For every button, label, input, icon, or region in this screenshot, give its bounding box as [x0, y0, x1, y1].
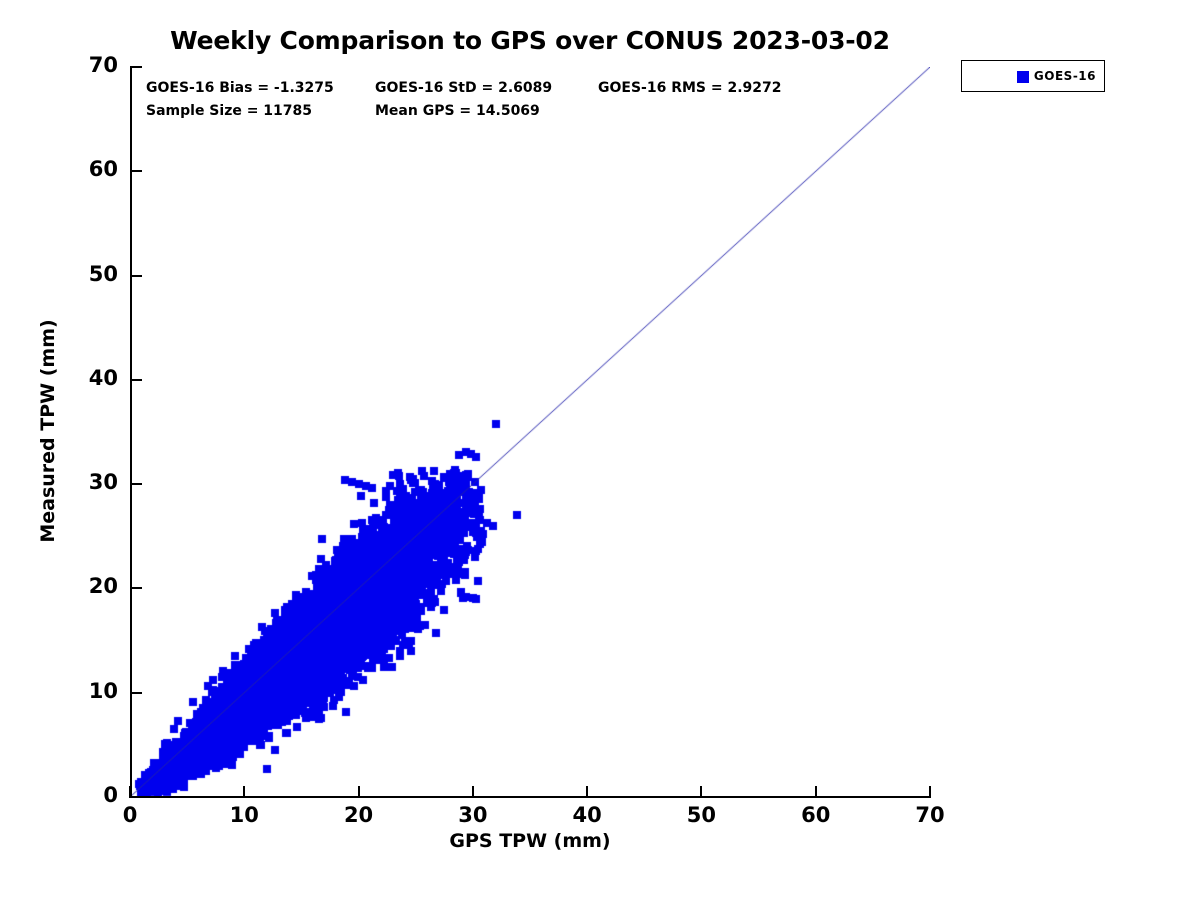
x-tick-60: [815, 786, 817, 797]
legend: GOES-16: [961, 60, 1105, 92]
x-tick-label-10: 10: [214, 803, 274, 827]
x-tick-10: [243, 786, 245, 797]
x-tick-label-40: 40: [557, 803, 617, 827]
y-axis-label: Measured TPW (mm): [37, 301, 59, 561]
y-tick-50: [131, 275, 142, 277]
stat-mean-gps: Mean GPS = 14.5069: [375, 103, 540, 119]
x-tick-label-50: 50: [671, 803, 731, 827]
y-tick-0: [131, 796, 142, 798]
stat-std: GOES-16 StD = 2.6089: [375, 80, 552, 96]
stat-sample-size: Sample Size = 11785: [146, 103, 312, 119]
plot-area: [130, 67, 930, 797]
y-axis-spine: [130, 66, 132, 798]
y-tick-label-30: 30: [58, 470, 118, 494]
x-tick-label-30: 30: [443, 803, 503, 827]
legend-label-goes16: GOES-16: [1034, 69, 1096, 83]
x-tick-70: [929, 786, 931, 797]
y-tick-label-40: 40: [58, 366, 118, 390]
scatter-plot-canvas: [130, 67, 930, 797]
stat-rms: GOES-16 RMS = 2.9272: [598, 80, 782, 96]
x-tick-50: [700, 786, 702, 797]
page-title: Weekly Comparison to GPS over CONUS 2023…: [130, 26, 930, 55]
x-tick-label-70: 70: [900, 803, 960, 827]
y-tick-label-50: 50: [58, 262, 118, 286]
y-tick-20: [131, 587, 142, 589]
y-tick-60: [131, 170, 142, 172]
y-tick-label-20: 20: [58, 574, 118, 598]
y-tick-30: [131, 483, 142, 485]
x-axis-label: GPS TPW (mm): [130, 830, 930, 852]
y-tick-label-60: 60: [58, 157, 118, 181]
y-tick-label-0: 0: [58, 783, 118, 807]
figure-canvas: Weekly Comparison to GPS over CONUS 2023…: [0, 0, 1200, 900]
x-tick-label-60: 60: [786, 803, 846, 827]
y-tick-40: [131, 379, 142, 381]
stat-bias: GOES-16 Bias = -1.3275: [146, 80, 334, 96]
y-tick-10: [131, 692, 142, 694]
y-tick-70: [131, 66, 142, 68]
y-tick-label-70: 70: [58, 53, 118, 77]
x-tick-20: [358, 786, 360, 797]
y-tick-label-10: 10: [58, 679, 118, 703]
x-tick-30: [472, 786, 474, 797]
x-tick-label-20: 20: [329, 803, 389, 827]
legend-marker-goes16-icon: [1017, 71, 1029, 83]
x-axis-spine: [129, 796, 931, 798]
x-tick-40: [586, 786, 588, 797]
